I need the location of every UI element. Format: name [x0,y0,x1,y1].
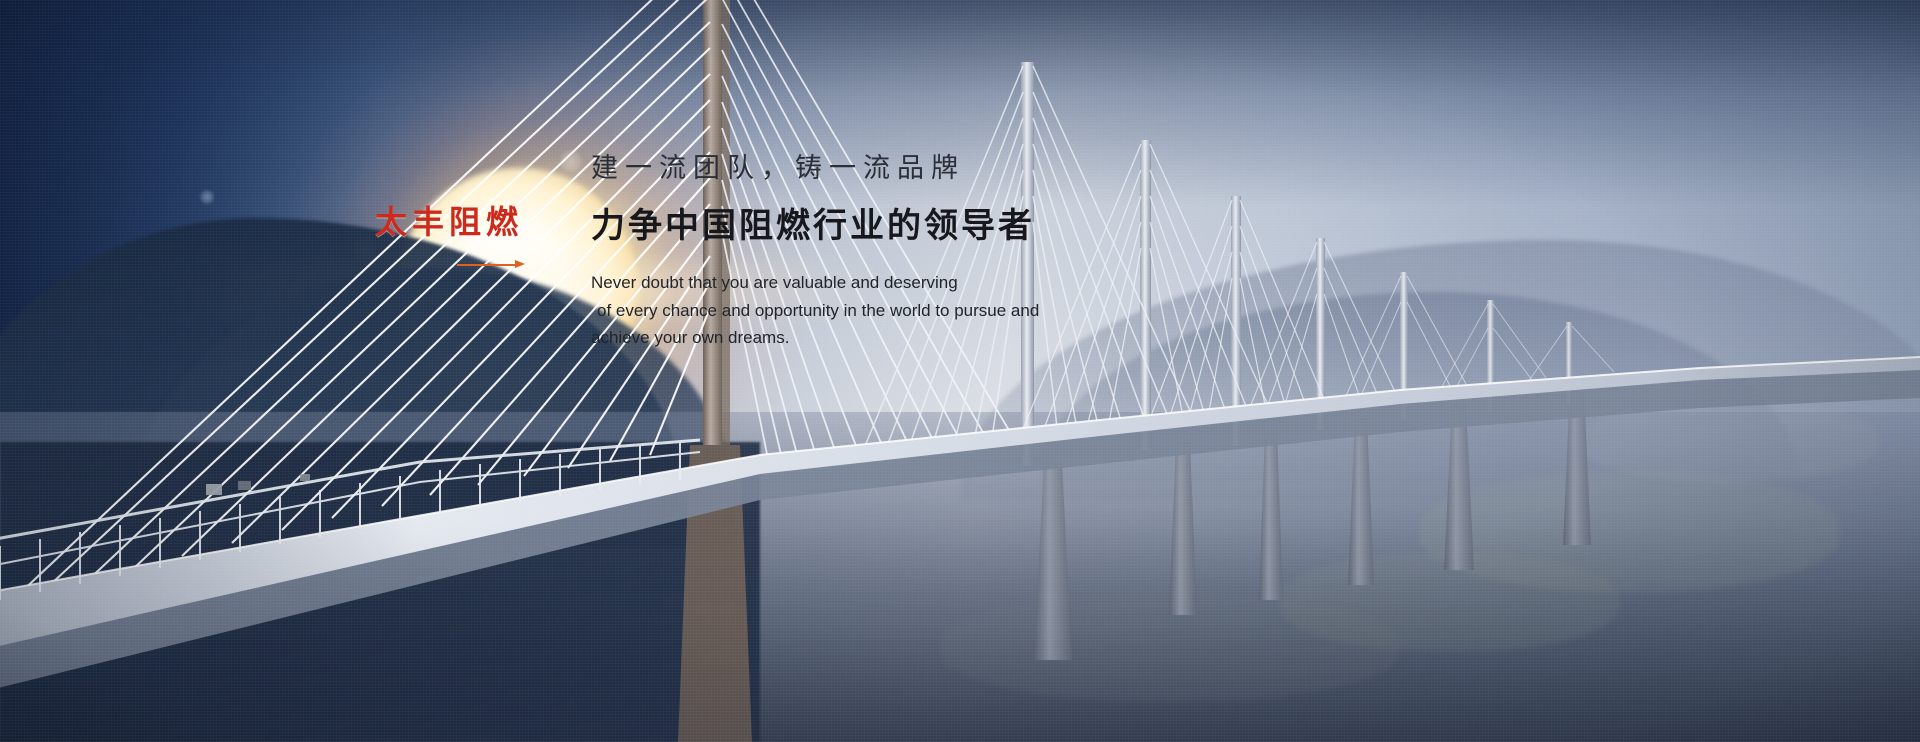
arrow-shaft [457,264,519,266]
banner-content: 太丰阻燃 建一流团队，铸一流品牌 力争中国阻燃行业的领导者 Never doub… [0,0,1920,742]
brand-logo-text: 太丰阻燃 [375,206,545,238]
paragraph-line: of every chance and opportunity in the w… [591,297,1061,325]
headline-group: 建一流团队，铸一流品牌 力争中国阻燃行业的领导者 Never doubt tha… [591,152,1231,352]
right-arrow-icon [457,259,525,271]
paragraph-line: achieve your own dreams. [591,324,1061,352]
headline-subtitle: 建一流团队，铸一流品牌 [591,152,1231,186]
headline-paragraph: Never doubt that you are valuable and de… [591,269,1061,352]
headline-title: 力争中国阻燃行业的领导者 [591,206,1231,247]
paragraph-line: Never doubt that you are valuable and de… [591,269,1061,297]
arrow-head [515,260,525,268]
hero-banner: 太丰阻燃 建一流团队，铸一流品牌 力争中国阻燃行业的领导者 Never doub… [0,0,1920,742]
brand-logo[interactable]: 太丰阻燃 [375,206,545,271]
